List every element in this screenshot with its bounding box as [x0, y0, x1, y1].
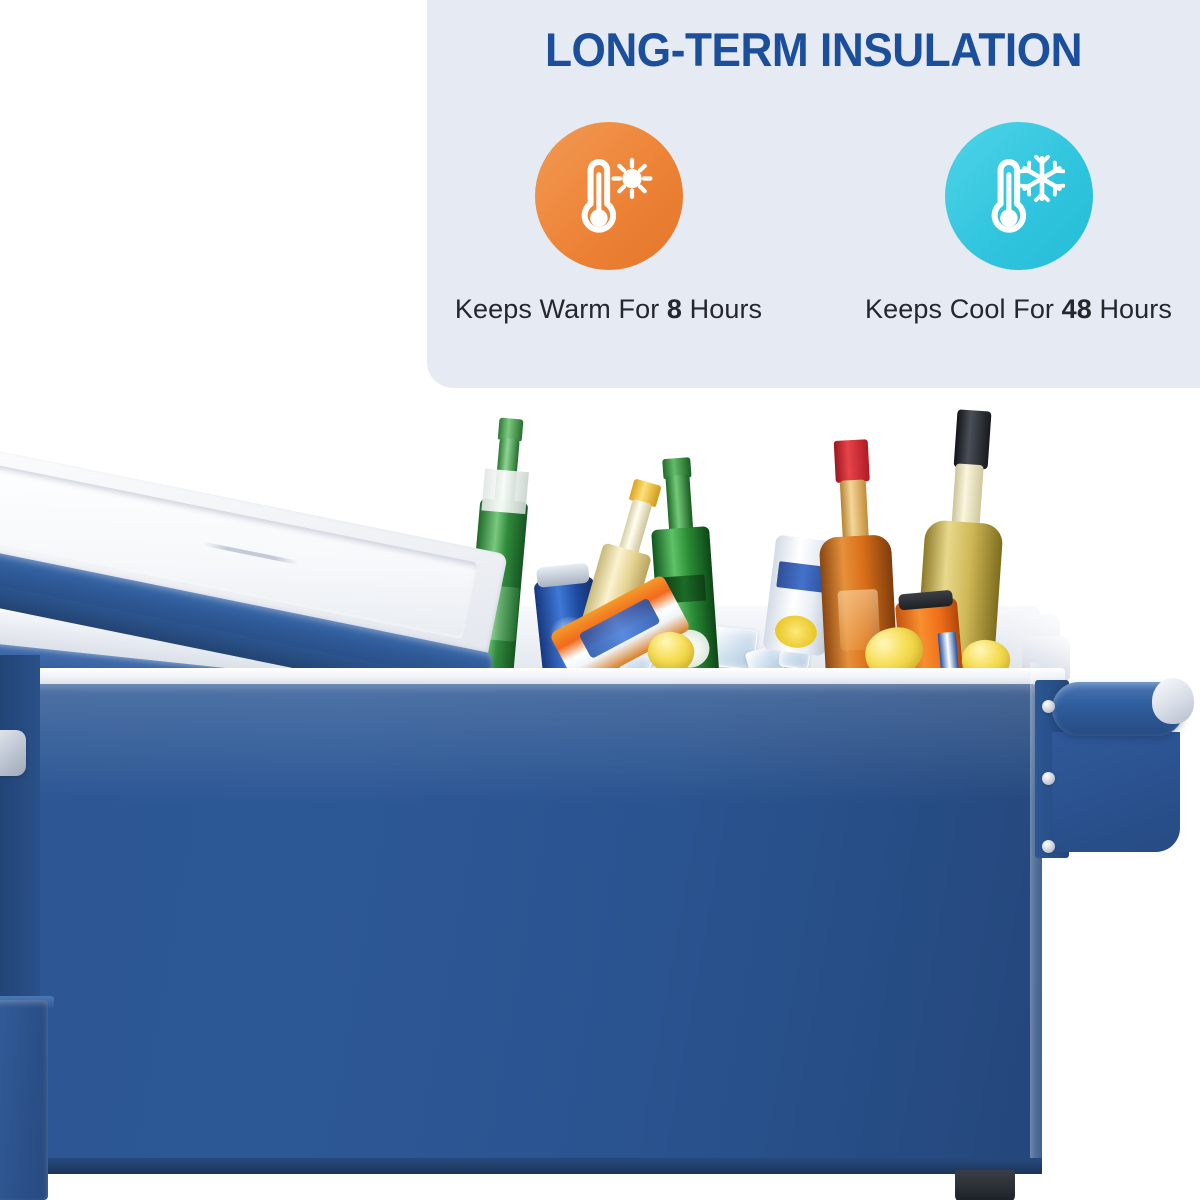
cooler-lower-tray	[0, 1000, 48, 1200]
warm-caption-prefix: Keeps Warm For	[455, 294, 667, 324]
warm-caption-value: 8	[667, 294, 682, 324]
feature-keeps-cool: Keeps Cool For 48 Hours	[890, 122, 1148, 325]
cool-caption-suffix: Hours	[1092, 294, 1172, 324]
cooler-side-latch[interactable]	[0, 730, 26, 776]
cooler-handle-bar-lower	[1052, 732, 1180, 852]
thermometer-snowflake-icon	[973, 150, 1065, 242]
cool-caption-prefix: Keeps Cool For	[865, 294, 1062, 324]
cooler-front-sheen	[0, 684, 1042, 804]
cool-badge	[945, 122, 1093, 270]
handle-screw-top	[1042, 700, 1055, 713]
cool-caption-value: 48	[1062, 294, 1092, 324]
warm-caption-suffix: Hours	[682, 294, 762, 324]
page-title: LONG-TERM INSULATION	[450, 22, 1177, 77]
cooler-handle-cap	[1152, 678, 1194, 724]
warm-caption: Keeps Warm For 8 Hours	[455, 294, 762, 325]
feature-list: Keeps Warm For 8 Hours	[427, 122, 1200, 325]
warm-badge	[535, 122, 683, 270]
cooler-leg	[955, 1170, 1015, 1200]
thermometer-sun-icon	[563, 150, 655, 242]
cooler-bottom-rail	[0, 1158, 1042, 1174]
cool-caption: Keeps Cool For 48 Hours	[865, 294, 1172, 325]
handle-screw-bottom	[1042, 840, 1055, 853]
feature-keeps-warm: Keeps Warm For 8 Hours	[480, 122, 738, 325]
product-marketing-image: LONG-TERM INSULATION	[0, 0, 1200, 1200]
cooler-product-photo	[0, 400, 1200, 1200]
handle-screw-mid	[1042, 772, 1055, 785]
insulation-info-panel: LONG-TERM INSULATION	[427, 0, 1200, 388]
